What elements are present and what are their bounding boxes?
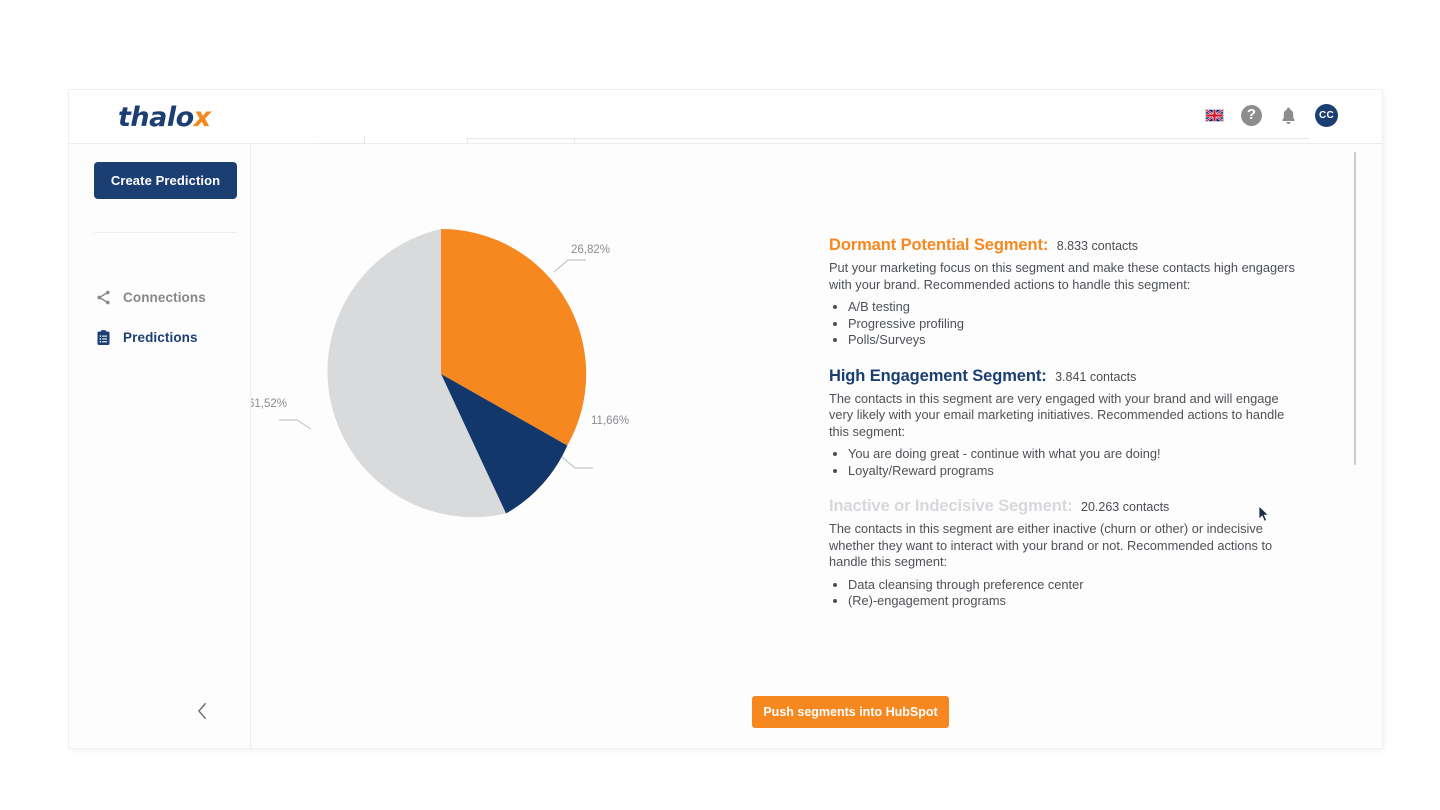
ghost-card-edge-3	[1307, 138, 1309, 139]
screen: thalox ?	[0, 0, 1440, 810]
pie-label-high-engagement: 11,66%	[591, 415, 629, 427]
notifications-bell-icon[interactable]	[1279, 105, 1298, 126]
push-segments-to-hubspot-button[interactable]: Push segments into HubSpot	[752, 696, 949, 728]
app-window: thalox ?	[69, 90, 1382, 748]
content-scrollbar-thumb[interactable]	[1354, 152, 1356, 465]
segment-block-dormant-potential: Dormant Potential Segment: 8.833 contact…	[829, 236, 1299, 349]
sidebar-item-connections[interactable]: Connections	[95, 289, 245, 306]
segment-block-inactive-indecisive: Inactive or Indecisive Segment: 20.263 c…	[829, 497, 1299, 610]
share-icon	[95, 289, 112, 306]
segment-title-dormant-potential: Dormant Potential Segment:	[829, 236, 1048, 254]
sidebar-collapse-button[interactable]	[189, 700, 215, 726]
segment-title-high-engagement: High Engagement Segment:	[829, 367, 1047, 385]
segment-count-dormant-potential: 8.833 contacts	[1057, 239, 1138, 253]
brand-logo-text: thalox	[118, 102, 211, 133]
list-item: Data cleansing through preference center	[848, 577, 1299, 594]
segment-heading-row: High Engagement Segment: 3.841 contacts	[829, 367, 1299, 386]
list-item: You are doing great - continue with what…	[848, 446, 1299, 463]
segments-pie-chart: 26,82% 11,66% 61,52%	[271, 224, 721, 604]
segment-heading-row: Dormant Potential Segment: 8.833 contact…	[829, 236, 1299, 255]
segment-description-dormant-potential: Put your marketing focus on this segment…	[829, 260, 1299, 293]
sidebar-item-predictions-label: Predictions	[123, 330, 198, 345]
top-bar-icon-group: ? CC	[1205, 104, 1338, 127]
list-item: A/B testing	[848, 299, 1299, 316]
segment-count-inactive-indecisive: 20.263 contacts	[1081, 500, 1169, 514]
segment-heading-row: Inactive or Indecisive Segment: 20.263 c…	[829, 497, 1299, 516]
segment-block-high-engagement: High Engagement Segment: 3.841 contacts …	[829, 367, 1299, 480]
create-prediction-button[interactable]: Create Prediction	[94, 162, 237, 199]
main-content: 26,82% 11,66% 61,52% Dormant Potential S…	[251, 144, 1382, 748]
sidebar-item-predictions[interactable]: Predictions	[95, 329, 245, 346]
pie-leader-line-inactive	[279, 420, 311, 429]
sidebar-divider	[94, 232, 237, 233]
list-item: Loyalty/Reward programs	[848, 463, 1299, 480]
segment-description-inactive-indecisive: The contacts in this segment are either …	[829, 521, 1299, 571]
segment-count-high-engagement: 3.841 contacts	[1055, 370, 1136, 384]
pie-label-dormant-potential: 26,82%	[571, 244, 610, 256]
language-flag-icon[interactable]	[1205, 109, 1224, 122]
ghost-card-tick-1	[364, 136, 365, 144]
pie-label-inactive-indecisive: 61,52%	[251, 398, 287, 410]
pie-leader-line-dormant	[554, 260, 586, 272]
segment-actions-high-engagement: You are doing great - continue with what…	[848, 446, 1299, 479]
help-icon[interactable]: ?	[1241, 105, 1262, 126]
list-item: Progressive profiling	[848, 316, 1299, 333]
list-item: Polls/Surveys	[848, 332, 1299, 349]
clipboard-icon	[95, 329, 112, 346]
segment-title-inactive-indecisive: Inactive or Indecisive Segment:	[829, 497, 1073, 515]
user-avatar[interactable]: CC	[1315, 104, 1338, 127]
segment-actions-dormant-potential: A/B testing Progressive profiling Polls/…	[848, 299, 1299, 349]
segment-actions-inactive-indecisive: Data cleansing through preference center…	[848, 577, 1299, 610]
pie-leader-line-high-engagement	[562, 457, 593, 468]
top-bar: thalox ?	[69, 90, 1382, 144]
list-item: (Re)-engagement programs	[848, 593, 1299, 610]
chevron-left-icon	[195, 701, 210, 726]
sidebar: Create Prediction Connections	[69, 144, 251, 748]
ghost-card-edge-2	[467, 138, 1307, 139]
pie-chart-svg	[271, 224, 611, 524]
segment-description-high-engagement: The contacts in this segment are very en…	[829, 391, 1299, 441]
brand-logo[interactable]: thalox	[118, 102, 211, 133]
segments-description-panel: Dormant Potential Segment: 8.833 contact…	[829, 236, 1299, 628]
sidebar-item-connections-label: Connections	[123, 290, 206, 305]
